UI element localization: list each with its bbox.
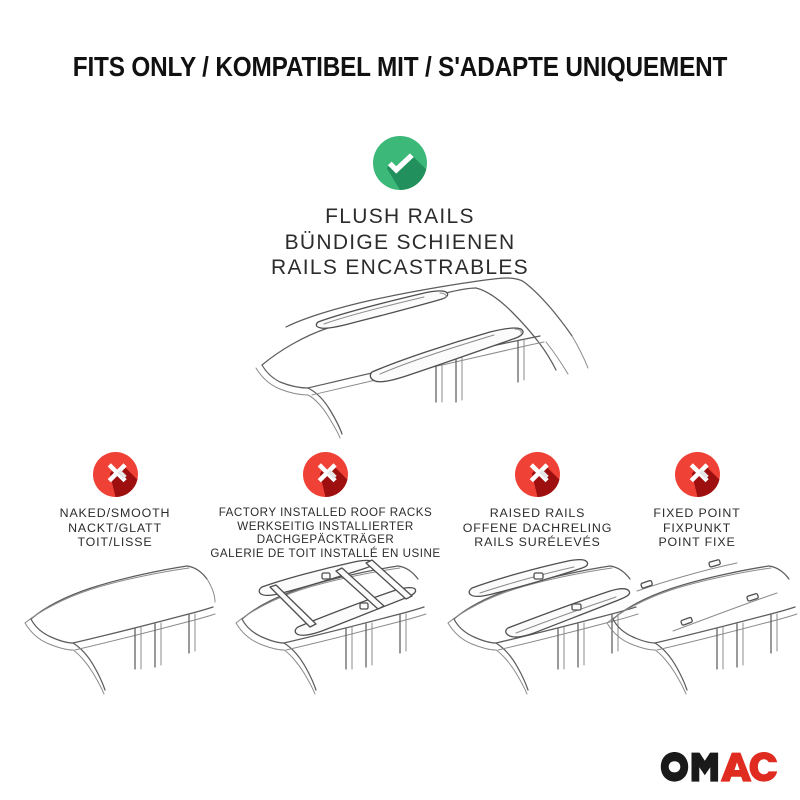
incompatible-item-factory-racks: FACTORY INSTALLED ROOF RACKS WERKSEITIG … [203,452,448,560]
raised-rails-label-fr: RAILS SURÉLEVÉS [440,535,635,550]
x-circle-icon [515,452,560,497]
fixed-point-label-de: FIXPUNKT [617,521,777,536]
car-roof-naked-smooth-illustration [15,557,215,697]
header: FITS ONLY / KOMPATIBEL MIT / S'ADAPTE UN… [0,52,800,82]
fixed-point-labels: FIXED POINT FIXPUNKT POINT FIXE [617,506,777,550]
naked-smooth-labels: NAKED/SMOOTH NACKT/GLATT TOIT/LISSE [25,506,205,550]
raised-rails-label-de: OFFENE DACHRELING [440,521,635,536]
factory-racks-label-en: FACTORY INSTALLED ROOF RACKS [203,506,448,520]
naked-smooth-label-fr: TOIT/LISSE [25,535,205,550]
naked-smooth-label-de: NACKT/GLATT [25,521,205,536]
compatible-section: FLUSH RAILS BÜNDIGE SCHIENEN RAILS ENCAS… [0,136,800,281]
car-roof-with-flush-rails-illustration [232,272,592,442]
omac-logo [660,750,778,784]
incompatible-item-naked-smooth: NAKED/SMOOTH NACKT/GLATT TOIT/LISSE [25,452,205,550]
x-circle-icon [675,452,720,497]
x-circle-icon [93,452,138,497]
x-circle-icon [303,452,348,497]
raised-rails-labels: RAISED RAILS OFFENE DACHRELING RAILS SUR… [440,506,635,550]
fixed-point-label-en: FIXED POINT [617,506,777,521]
car-roof-with-fixed-points-illustration [597,557,797,697]
naked-smooth-label-en: NAKED/SMOOTH [25,506,205,521]
compatible-labels: FLUSH RAILS BÜNDIGE SCHIENEN RAILS ENCAS… [0,204,800,281]
compatible-label-de: BÜNDIGE SCHIENEN [0,230,800,256]
car-roof-with-factory-crossbars-illustration [226,557,426,697]
page-title: FITS ONLY / KOMPATIBEL MIT / S'ADAPTE UN… [46,52,754,82]
factory-racks-label-de-2: DACHGEPÄCKTRÄGER [203,533,448,547]
raised-rails-label-en: RAISED RAILS [440,506,635,521]
fixed-point-label-fr: POINT FIXE [617,535,777,550]
factory-racks-label-de-1: WERKSEITIG INSTALLIERTER [203,520,448,534]
incompatible-item-raised-rails: RAISED RAILS OFFENE DACHRELING RAILS SUR… [440,452,635,550]
check-circle-icon [373,136,427,190]
factory-racks-labels: FACTORY INSTALLED ROOF RACKS WERKSEITIG … [203,506,448,560]
compatible-label-en: FLUSH RAILS [0,204,800,230]
incompatible-item-fixed-point: FIXED POINT FIXPUNKT POINT FIXE [617,452,777,550]
incompatible-row: NAKED/SMOOTH NACKT/GLATT TOIT/LISSE [0,452,800,752]
